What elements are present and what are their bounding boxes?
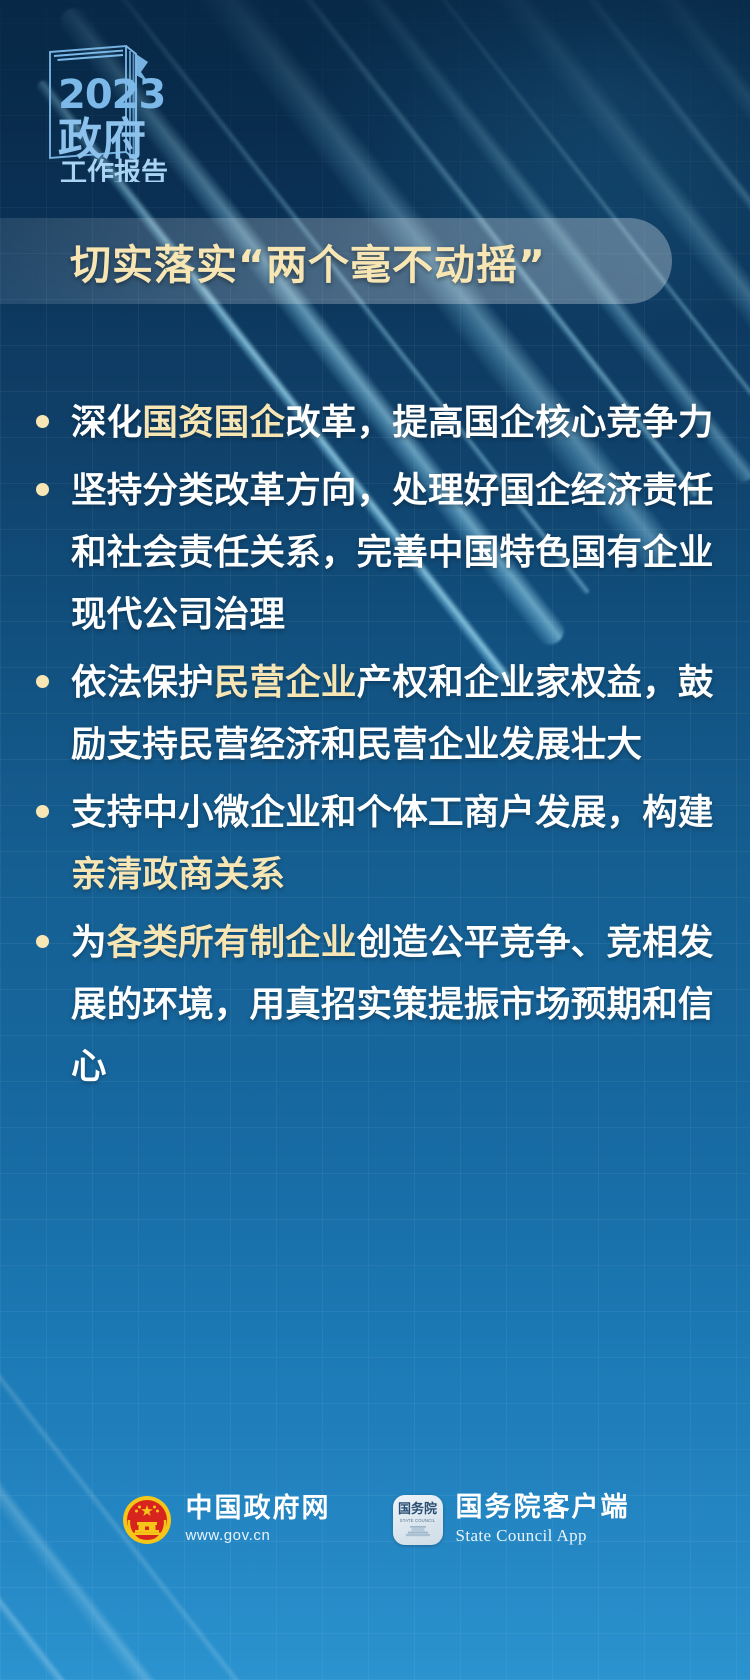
svg-text:2023: 2023 — [58, 72, 165, 118]
bullet-dot-icon — [36, 675, 49, 688]
diagonal-light-streaks-bottom-left — [0, 1089, 695, 1680]
plain-phrase: 坚持分类改革方向，处理好国企经济责任和社会责任关系，完善中国特色国有企业现代公司… — [71, 470, 714, 635]
page-title: 切实落实“两个毫不动摇” — [70, 231, 546, 291]
gov-site-logo[interactable]: 中国政府网 www.gov.cn — [121, 1494, 331, 1546]
highlighted-phrase: 民营企业 — [214, 662, 357, 703]
book-icon: 2023 政府 工作报告 — [40, 42, 190, 182]
bullet-dot-icon — [36, 805, 49, 818]
title-banner: 切实落实“两个毫不动摇” — [0, 218, 672, 304]
gov-site-name: 中国政府网 — [186, 1494, 331, 1524]
bullet-list: 深化国资国企改革，提高国企核心竞争力 坚持分类改革方向，处理好国企经济责任和社会… — [36, 392, 716, 1104]
plain-phrase: 依法保护 — [71, 662, 214, 703]
svg-text:工作报告: 工作报告 — [60, 158, 168, 182]
bullet-dot-icon — [36, 935, 49, 948]
list-item-text: 为各类所有制企业创造公平竞争、竞相发展的环境，用真招实策提振市场预期和信心 — [71, 912, 716, 1098]
list-item-text: 坚持分类改革方向，处理好国企经济责任和社会责任关系，完善中国特色国有企业现代公司… — [71, 460, 716, 646]
highlighted-phrase: 各类所有制企业 — [107, 922, 357, 963]
bullet-dot-icon — [36, 415, 49, 428]
app-icon-label-en: STATE COUNCIL — [400, 1518, 435, 1523]
state-council-app-name: 国务院客户端 — [456, 1493, 630, 1523]
list-item: 坚持分类改革方向，处理好国企经济责任和社会责任关系，完善中国特色国有企业现代公司… — [36, 460, 716, 646]
highlighted-phrase: 国资国企 — [142, 402, 285, 443]
highlighted-phrase: 亲清政商关系 — [71, 854, 285, 895]
plain-phrase: 深化 — [71, 402, 142, 443]
gov-site-url: www.gov.cn — [186, 1526, 331, 1546]
list-item-text: 依法保护民营企业产权和企业家权益，鼓励支持民营经济和民营企业发展壮大 — [71, 652, 716, 776]
list-item: 依法保护民营企业产权和企业家权益，鼓励支持民营经济和民营企业发展壮大 — [36, 652, 716, 776]
state-council-app-logo[interactable]: 国务院 STATE COUNCIL 国务院客户端 State Council A… — [393, 1493, 630, 1547]
list-item-text: 深化国资国企改革，提高国企核心竞争力 — [71, 392, 716, 454]
infographic-poster: 2023 政府 工作报告 切实落实“两个毫不动摇” 深化国资国企改革，提高国企核… — [0, 0, 750, 1680]
tiananmen-gate-icon — [403, 1525, 433, 1537]
list-item: 深化国资国企改革，提高国企核心竞争力 — [36, 392, 716, 454]
plain-phrase: 支持中小微企业和个体工商户发展，构建 — [71, 792, 714, 833]
state-council-app-icon: 国务院 STATE COUNCIL — [393, 1495, 443, 1545]
state-council-app-name-en: State Council App — [456, 1525, 630, 1547]
plain-phrase: 改革，提高国企核心竞争力 — [285, 402, 713, 443]
list-item: 为各类所有制企业创造公平竞争、竞相发展的环境，用真招实策提振市场预期和信心 — [36, 912, 716, 1098]
footer: 中国政府网 www.gov.cn 国务院 STATE COUNCIL 国务院客户… — [0, 1480, 750, 1560]
app-icon-label-cn: 国务院 — [398, 1503, 437, 1516]
national-emblem-icon — [121, 1494, 173, 1546]
list-item: 支持中小微企业和个体工商户发展，构建亲清政商关系 — [36, 782, 716, 906]
plain-phrase: 为 — [71, 922, 107, 963]
report-logo: 2023 政府 工作报告 — [40, 42, 190, 182]
bullet-dot-icon — [36, 483, 49, 496]
list-item-text: 支持中小微企业和个体工商户发展，构建亲清政商关系 — [71, 782, 716, 906]
